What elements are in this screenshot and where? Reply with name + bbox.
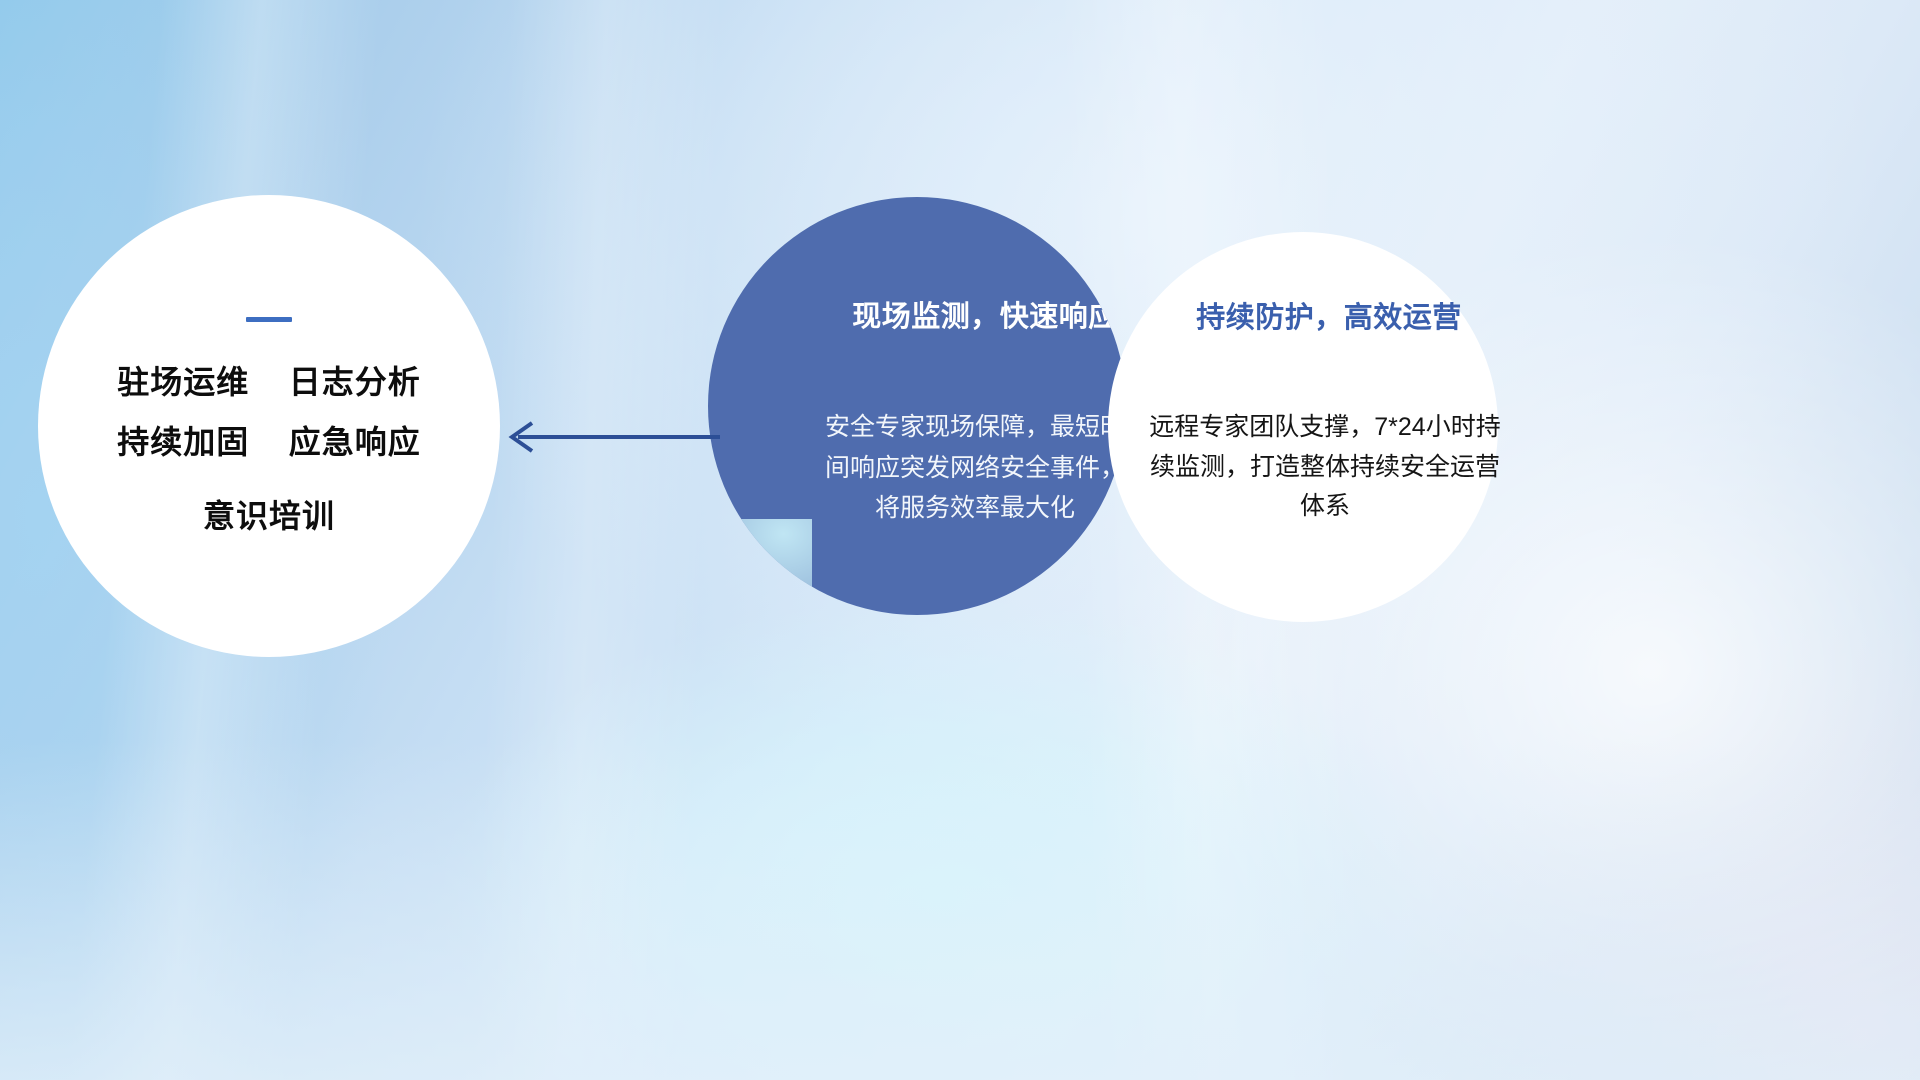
continuous-protection-circle: 持续防护，高效运营 远程专家团队支撑，7*24小时持续监测，打造整体持续安全运营… — [1108, 232, 1498, 622]
left-circle-line-2: 持续加固 应急响应 — [117, 426, 421, 458]
arrow-left-icon — [492, 418, 722, 456]
slide-canvas: 驻场运维 日志分析 持续加固 应急响应 意识培训 现场监测，快速响应 安全专家现… — [0, 0, 1920, 1080]
left-capability-circle: 驻场运维 日志分析 持续加固 应急响应 意识培训 — [38, 195, 500, 657]
right-circle-title: 持续防护，高效运营 — [1196, 294, 1462, 336]
left-circle-line-1: 驻场运维 日志分析 — [117, 366, 421, 398]
blue-circle-body: 安全专家现场保障，最短时间响应突发网络安全事件，将服务效率最大化 — [825, 407, 1125, 529]
right-circle-body: 远程专家团队支撑，7*24小时持续监测，打造整体持续安全运营体系 — [1139, 408, 1511, 527]
onsite-monitoring-circle: 现场监测，快速响应 安全专家现场保障，最短时间响应突发网络安全事件，将服务效率最… — [708, 197, 1126, 615]
left-circle-line-3: 意识培训 — [203, 500, 335, 532]
blue-circle-content: 现场监测，快速响应 安全专家现场保障，最短时间响应突发网络安全事件，将服务效率最… — [708, 197, 1126, 615]
horizontal-dash-icon — [246, 317, 292, 322]
blue-circle-title: 现场监测，快速响应 — [852, 293, 1118, 335]
